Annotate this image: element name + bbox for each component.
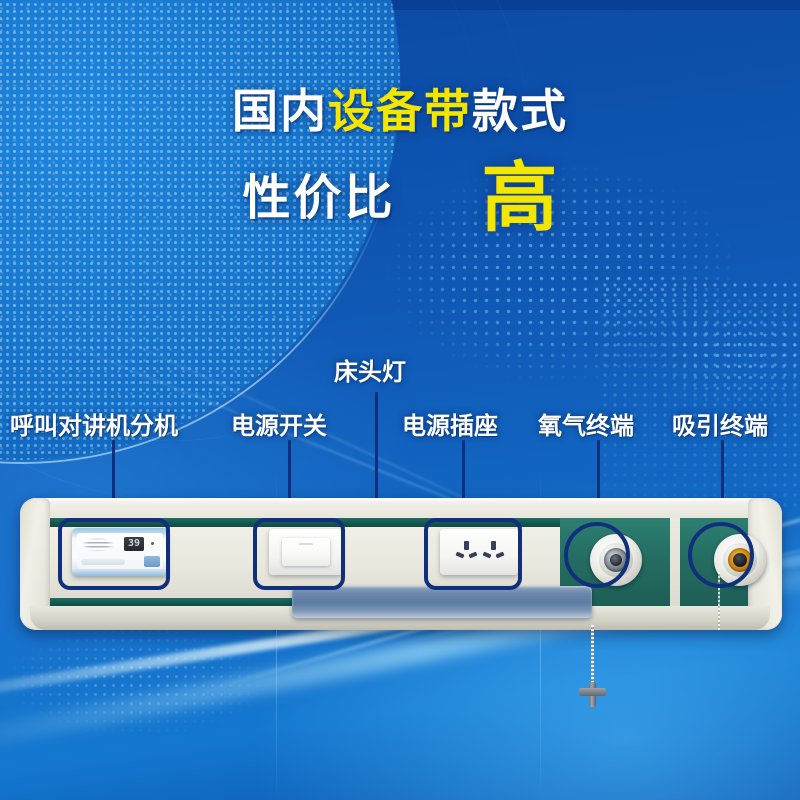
highlight-circle-oxygen bbox=[564, 522, 630, 588]
highlight-circle-suction bbox=[688, 522, 754, 588]
callout-label-intercom: 呼叫对讲机分机 bbox=[10, 414, 178, 438]
pull-cord-handle[interactable] bbox=[579, 682, 606, 707]
banner-canvas: 国内设备带款式 性价比 高 呼叫对讲机分机 电源开关 床头灯 电源插座 氧气终端… bbox=[0, 0, 800, 800]
pull-cord-handle-crossbar bbox=[579, 688, 606, 696]
callout-label-bedlamp: 床头灯 bbox=[334, 360, 406, 384]
callout-label-socket: 电源插座 bbox=[402, 414, 498, 438]
highlight-box-socket bbox=[424, 518, 522, 590]
callout-label-oxygen: 氧气终端 bbox=[538, 414, 634, 438]
grab-handrail bbox=[292, 586, 592, 618]
callout-label-switch: 电源开关 bbox=[231, 414, 327, 438]
highlight-box-switch bbox=[253, 518, 345, 590]
callout-layer: 呼叫对讲机分机 电源开关 床头灯 电源插座 氧气终端 吸引终端 bbox=[0, 0, 800, 800]
highlight-box-intercom bbox=[58, 518, 170, 590]
callout-label-suction: 吸引终端 bbox=[672, 414, 768, 438]
panel-zone-divider bbox=[670, 518, 680, 607]
nurse-call-pull-cord[interactable] bbox=[591, 625, 594, 690]
